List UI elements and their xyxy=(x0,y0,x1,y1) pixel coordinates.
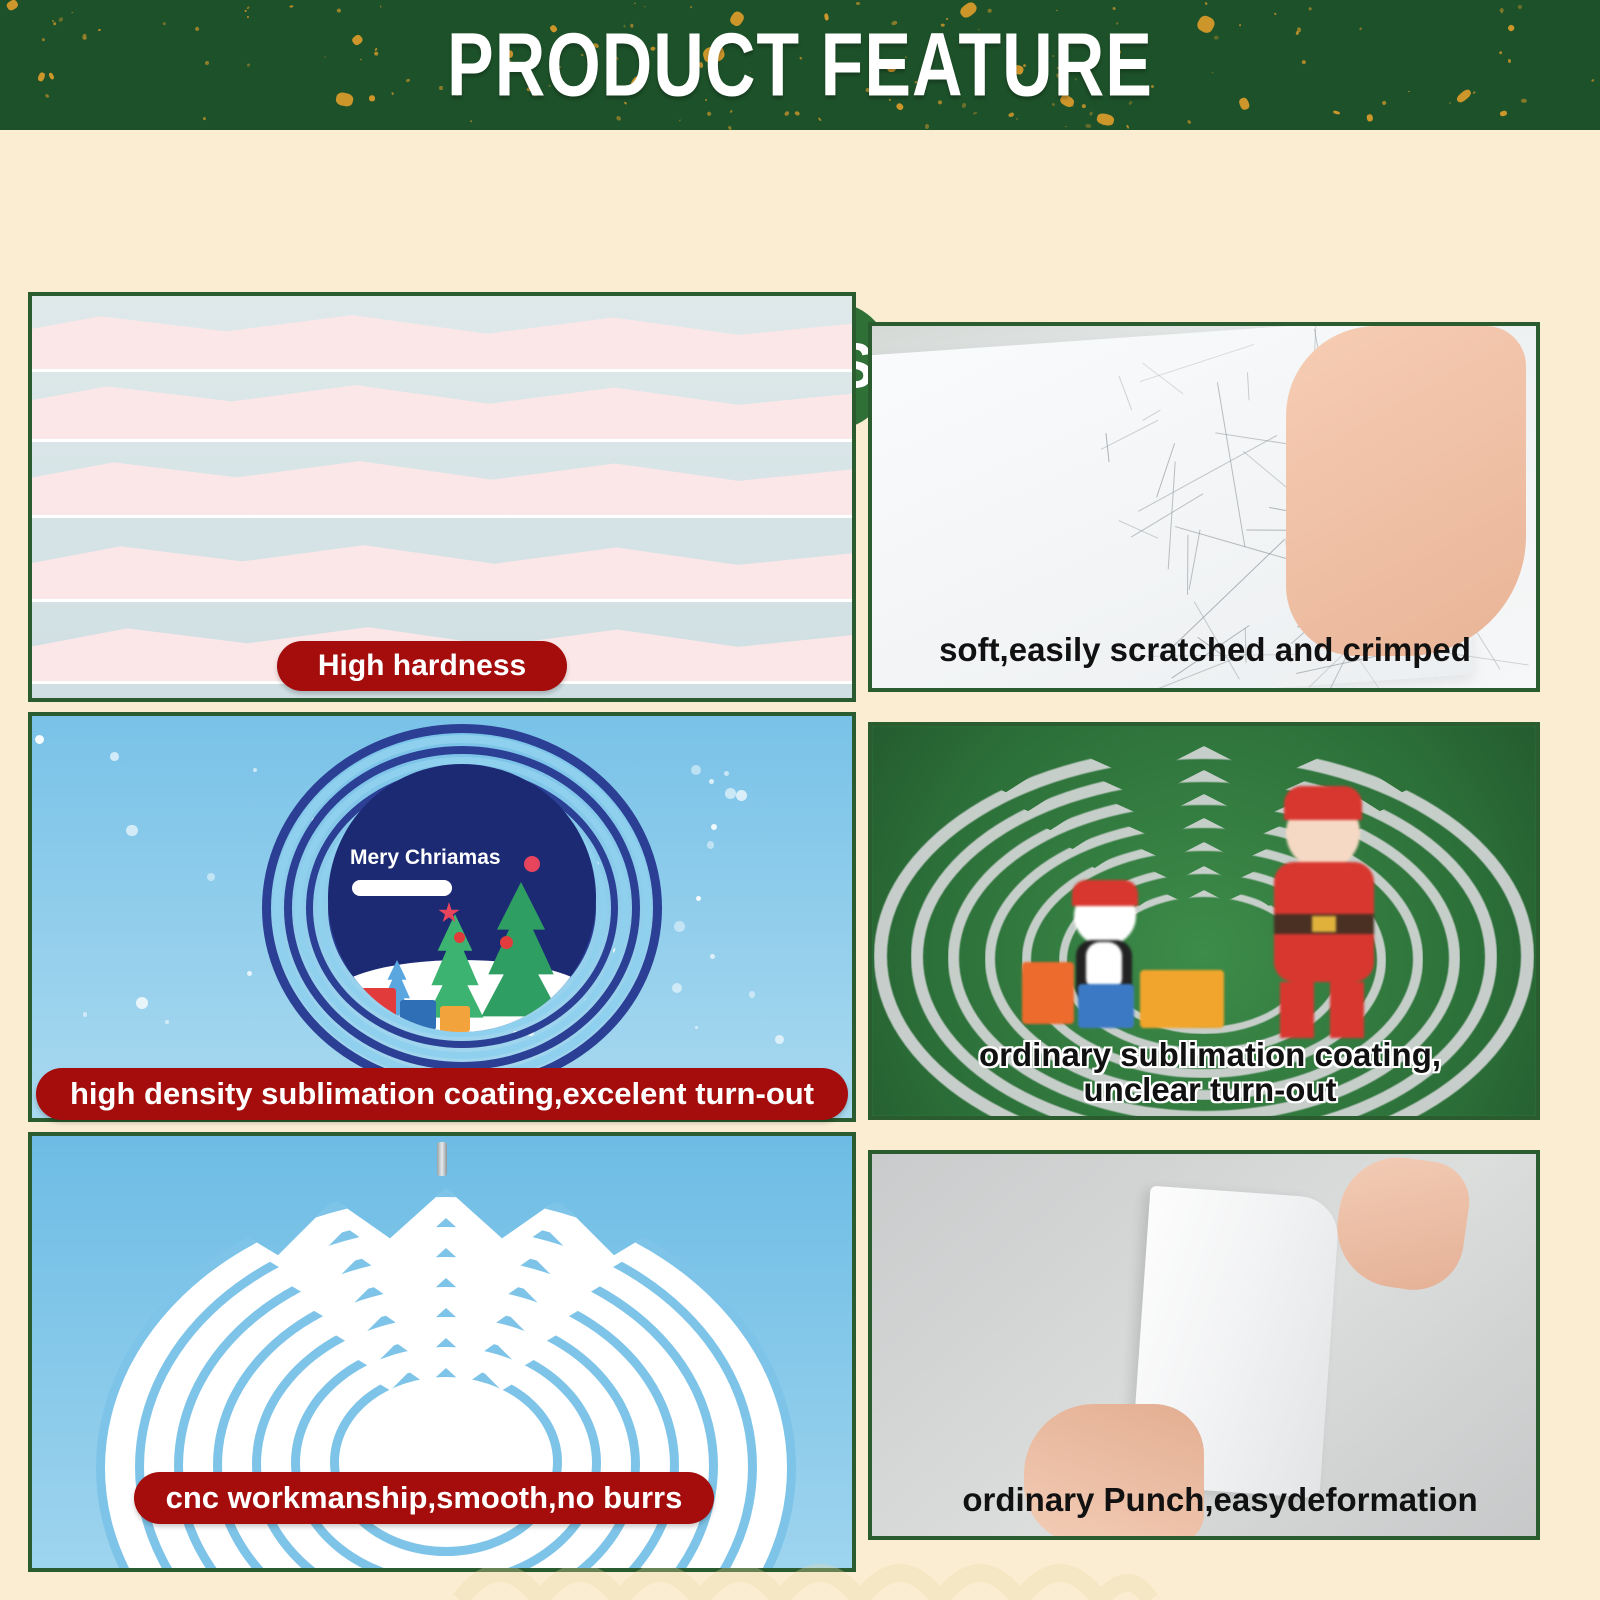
scratch-mark xyxy=(1118,376,1131,410)
snow-dot xyxy=(711,824,717,830)
snow-dot xyxy=(83,1012,87,1016)
snow-dot xyxy=(674,921,685,932)
gift-box xyxy=(356,988,396,1022)
hand-image xyxy=(1286,326,1526,656)
caption-cnc-workmanship: cnc workmanship,smooth,no burrs xyxy=(134,1472,714,1524)
snow-dot xyxy=(247,971,252,976)
ornament-ball xyxy=(454,932,465,943)
snow-dot xyxy=(207,873,215,881)
gift-box xyxy=(1078,984,1134,1028)
snow-dot xyxy=(695,1026,698,1029)
christmas-spinner-image: Mery Chriamas xyxy=(262,724,662,1092)
comparison-header: Ours VS Others xyxy=(0,130,1600,290)
spinner-layer xyxy=(330,1368,562,1556)
christmas-tree xyxy=(478,882,564,1022)
caption-high-hardness: High hardness xyxy=(277,641,567,691)
snow-dot xyxy=(110,752,119,761)
caption-line-1: ordinary sublimation coating, xyxy=(979,1038,1441,1073)
gift-box xyxy=(1140,970,1224,1028)
scratch-mark xyxy=(1188,530,1200,590)
hanging-hook-icon xyxy=(437,1142,447,1176)
scratch-mark xyxy=(1140,344,1254,382)
snow-dot xyxy=(725,788,736,799)
snow-dot xyxy=(749,991,755,997)
gift-box xyxy=(1022,962,1074,1024)
scene-bar-decoration xyxy=(352,880,452,896)
scratch-mark xyxy=(1247,372,1250,400)
snow-dot xyxy=(136,997,148,1009)
page-title: PRODUCT FEATURE xyxy=(0,0,1600,130)
gift-box xyxy=(400,1000,436,1030)
scratch-mark xyxy=(1101,420,1159,450)
snow-dot xyxy=(709,779,714,784)
ornament-ball xyxy=(500,936,513,949)
santa-figure xyxy=(1264,796,1384,1046)
snow-dot xyxy=(165,1020,168,1023)
scene-text: Mery Chriamas xyxy=(350,846,501,870)
ornament-ball xyxy=(524,856,540,872)
snow-dot xyxy=(126,825,138,837)
snow-dot xyxy=(253,768,257,772)
scratch-mark xyxy=(1137,435,1276,512)
scratch-mark xyxy=(1168,462,1176,569)
caption-ordinary-punch: ordinary Punch,easydeformation xyxy=(900,1478,1540,1522)
caption-ordinary-coating: ordinary sublimation coating, unclear tu… xyxy=(880,1028,1540,1118)
panel-ours-sublimation: Mery Chriamas xyxy=(28,712,856,1122)
scratch-mark xyxy=(1143,409,1162,421)
caption-high-density-coating: high density sublimation coating,excelen… xyxy=(36,1068,848,1120)
caption-soft-scratched: soft,easily scratched and crimped xyxy=(880,628,1530,672)
gift-box xyxy=(440,1006,470,1032)
caption-line-2: unclear turn-out xyxy=(1084,1073,1337,1108)
header-banner: PRODUCT FEATURE xyxy=(0,0,1600,130)
spinner-scene: Mery Chriamas xyxy=(328,764,596,1032)
